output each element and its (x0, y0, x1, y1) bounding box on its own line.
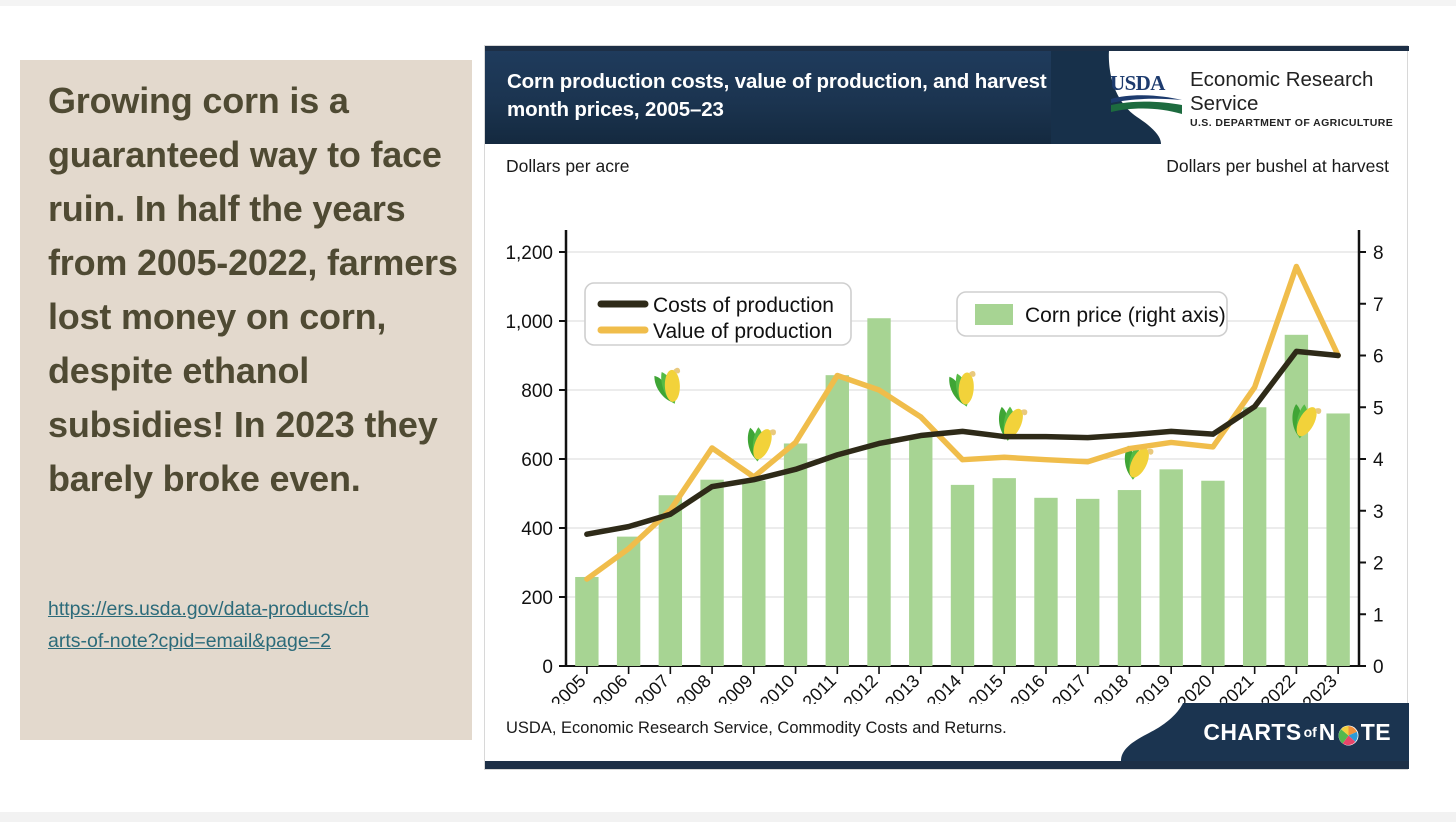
chart-header: Corn production costs, value of producti… (485, 51, 1409, 144)
bar-2008 (700, 480, 723, 666)
x-tick-label: 2021 (1215, 671, 1257, 704)
commentary-text: Growing corn is a guaranteed way to face… (48, 74, 478, 506)
bar-2023 (1326, 413, 1349, 666)
corn-icon (653, 366, 688, 407)
bar-2019 (1159, 469, 1182, 666)
legend-swatch (975, 304, 1013, 325)
y-tick-label: 1,200 (505, 243, 553, 264)
footer-source-text: USDA, Economic Research Service, Commodi… (506, 719, 1007, 738)
y2-tick-label: 6 (1373, 347, 1384, 368)
bar-2014 (951, 485, 974, 666)
x-tick-label: 2022 (1257, 671, 1299, 704)
y2-tick-label: 4 (1373, 450, 1384, 471)
x-tick-label: 2006 (589, 671, 631, 704)
pie-chart-icon (1338, 725, 1359, 746)
y-tick-label: 800 (521, 381, 553, 402)
y2-tick-label: 8 (1373, 243, 1384, 264)
x-tick-label: 2020 (1173, 671, 1215, 704)
brand-word-n: N (1319, 719, 1336, 746)
y2-tick-label: 2 (1373, 554, 1384, 575)
x-tick-label: 2018 (1090, 671, 1132, 704)
y-tick-label: 0 (542, 657, 553, 678)
x-tick-label: 2016 (1006, 671, 1048, 704)
x-tick-label: 2015 (965, 671, 1007, 704)
y2-tick-label: 0 (1373, 657, 1384, 678)
bar-2021 (1243, 407, 1266, 666)
source-link[interactable]: https://ers.usda.gov/data-products/chart… (48, 593, 378, 657)
corn-icon (744, 424, 777, 463)
usda-mark: USDA (1110, 71, 1183, 117)
bar-2016 (1034, 498, 1057, 666)
x-tick-label: 2008 (672, 671, 714, 704)
commentary-panel: Growing corn is a guaranteed way to face… (20, 60, 472, 740)
card-bottom-rule (485, 761, 1409, 769)
bar-2015 (993, 478, 1016, 666)
bar-2005 (575, 577, 598, 666)
chart-title: Corn production costs, value of producti… (507, 68, 1067, 124)
legend-label: Costs of production (653, 294, 834, 317)
plot-area: 02004006008001,0001,20001234567820052006… (485, 194, 1409, 704)
chart-svg: 02004006008001,0001,20001234567820052006… (485, 194, 1409, 704)
right-axis-caption: Dollars per bushel at harvest (1166, 156, 1389, 177)
y-tick-label: 400 (521, 519, 553, 540)
usda-agency-lines: Economic Research Service U.S. DEPARTMEN… (1190, 68, 1400, 131)
brand-word-te: TE (1361, 719, 1391, 746)
bar-2017 (1076, 499, 1099, 666)
brand-word-of: of (1304, 724, 1317, 740)
slide: Growing corn is a guaranteed way to face… (0, 0, 1456, 822)
y-tick-label: 200 (521, 588, 553, 609)
x-tick-label: 2005 (547, 671, 589, 704)
usda-wordmark: USDA (1110, 71, 1183, 96)
bar-2011 (826, 375, 849, 666)
bar-2013 (909, 436, 932, 666)
slide-top-edge (0, 0, 1456, 6)
bar-2018 (1118, 490, 1141, 666)
bar-2022 (1285, 335, 1308, 666)
x-tick-label: 2019 (1132, 671, 1174, 704)
bar-group (575, 318, 1350, 666)
usda-department-name: U.S. DEPARTMENT OF AGRICULTURE (1190, 116, 1400, 131)
x-tick-label: 2013 (881, 671, 923, 704)
x-tick-label: 2010 (756, 671, 798, 704)
y2-tick-label: 5 (1373, 398, 1384, 419)
usda-agency-name: Economic Research Service (1190, 68, 1400, 116)
chart-card: Corn production costs, value of producti… (484, 45, 1408, 770)
brand-word-charts: CHARTS (1203, 719, 1301, 746)
bar-2009 (742, 481, 765, 666)
corn-icon (948, 370, 980, 409)
y2-tick-label: 3 (1373, 502, 1384, 523)
legend-label: Corn price (right axis) (1025, 304, 1226, 327)
usda-logo: USDA Economic Research Service U.S. DEPA… (1110, 69, 1400, 125)
bar-2010 (784, 443, 807, 666)
x-tick-label: 2012 (839, 671, 881, 704)
y2-tick-label: 7 (1373, 295, 1384, 316)
left-axis-caption: Dollars per acre (506, 156, 630, 177)
slide-bottom-edge (0, 812, 1456, 822)
x-tick-label: 2017 (1048, 671, 1090, 704)
usda-swoosh-icon (1110, 94, 1183, 116)
x-tick-label: 2014 (923, 671, 965, 704)
charts-of-note-banner: CHARTS of N TE (1121, 703, 1409, 761)
bar-2012 (867, 318, 890, 666)
charts-of-note-wordmark: CHARTS of N TE (1203, 717, 1391, 747)
y-tick-label: 600 (521, 450, 553, 471)
legend-label: Value of production (653, 320, 832, 343)
x-tick-label: 2011 (799, 671, 841, 704)
chart-footer: USDA, Economic Research Service, Commodi… (485, 703, 1409, 761)
y-tick-label: 1,000 (505, 312, 553, 333)
x-tick-label: 2007 (631, 671, 673, 704)
y2-tick-label: 1 (1373, 605, 1384, 626)
bar-2020 (1201, 481, 1224, 666)
x-tick-label: 2009 (714, 671, 756, 704)
x-tick-label: 2023 (1299, 671, 1341, 704)
